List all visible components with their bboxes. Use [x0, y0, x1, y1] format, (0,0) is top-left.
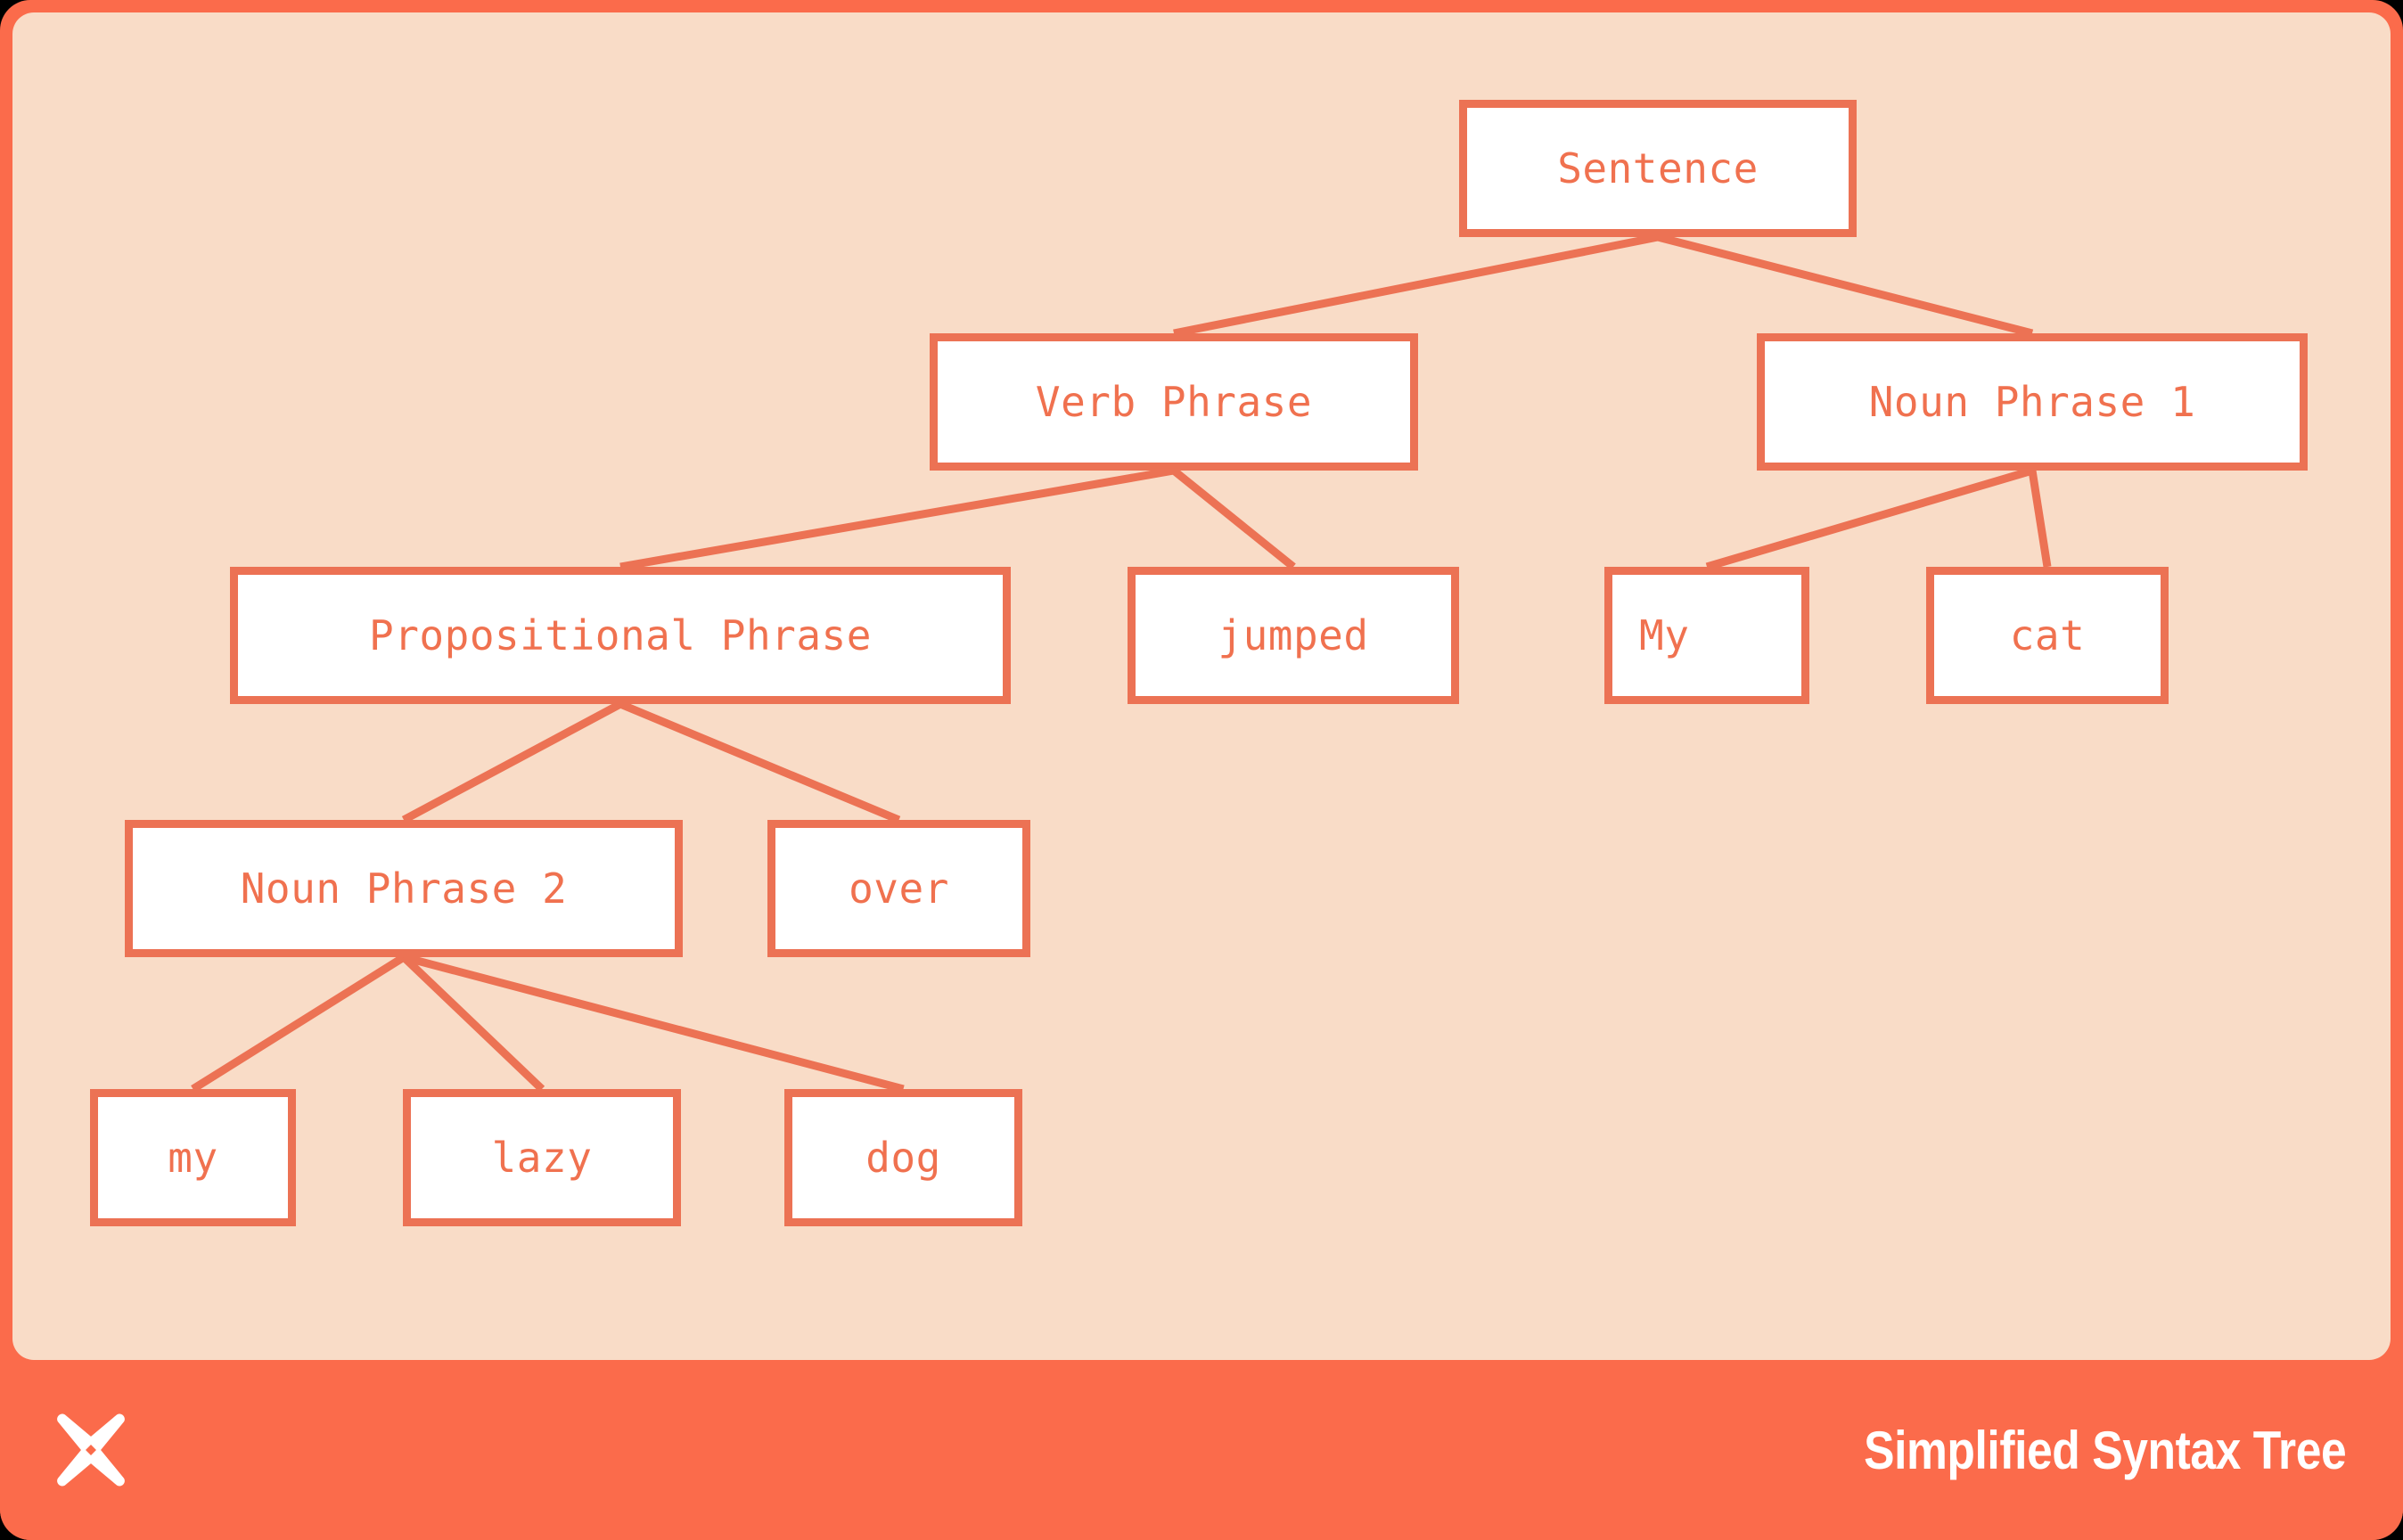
x-mark-logo-icon [50, 1409, 132, 1491]
tree-node-dog[interactable]: dog [784, 1089, 1022, 1226]
syntax-tree-card: SentenceVerb PhraseNoun Phrase 1Proposit… [0, 0, 2403, 1540]
edge-verb_phrase-to-prop_phrase [620, 471, 1174, 567]
tree-node-jumped[interactable]: jumped [1128, 567, 1459, 704]
tree-node-label: jumped [1218, 615, 1368, 656]
tree-node-label: lazy [492, 1137, 593, 1178]
tree-node-label: dog [865, 1137, 941, 1178]
footer-bar: Simplified Syntax Tree [0, 1360, 2403, 1540]
tree-node-label: Noun Phrase 2 [241, 868, 568, 909]
edge-sentence-to-verb_phrase [1174, 237, 1658, 333]
tree-node-label: Sentence [1557, 148, 1759, 189]
edge-noun_phrase_1-to-cat [2032, 471, 2047, 567]
edge-sentence-to-noun_phrase_1 [1658, 237, 2032, 333]
tree-node-over[interactable]: over [767, 820, 1030, 957]
tree-node-label: Propositional Phrase [369, 615, 872, 656]
tree-node-label: over [849, 868, 949, 909]
tree-node-noun_phrase_2[interactable]: Noun Phrase 2 [125, 820, 683, 957]
footer-title: Simplified Syntax Tree [1864, 1420, 2346, 1481]
tree-node-label: my [168, 1137, 217, 1178]
tree-node-my_poss[interactable]: my [90, 1089, 296, 1226]
tree-node-prop_phrase[interactable]: Propositional Phrase [230, 567, 1011, 704]
tree-node-label: Verb Phrase [1036, 381, 1312, 422]
edge-prop_phrase-to-over [620, 704, 899, 820]
tree-node-cat[interactable]: cat [1926, 567, 2169, 704]
tree-node-label: Noun Phrase 1 [1869, 381, 2196, 422]
tree-node-sentence[interactable]: Sentence [1459, 100, 1857, 237]
edge-noun_phrase_1-to-my_det [1707, 471, 2032, 567]
edge-noun_phrase_2-to-dog [404, 957, 904, 1089]
tree-node-label: cat [2010, 615, 2086, 656]
tree-node-lazy[interactable]: lazy [403, 1089, 681, 1226]
tree-node-verb_phrase[interactable]: Verb Phrase [930, 333, 1418, 471]
tree-node-my_det[interactable]: My [1604, 567, 1809, 704]
tree-node-noun_phrase_1[interactable]: Noun Phrase 1 [1757, 333, 2308, 471]
diagram-canvas: SentenceVerb PhraseNoun Phrase 1Proposit… [12, 12, 2391, 1360]
tree-node-label: My [1639, 615, 1689, 656]
edge-noun_phrase_2-to-lazy [404, 957, 542, 1089]
edge-verb_phrase-to-jumped [1174, 471, 1293, 567]
edge-noun_phrase_2-to-my_poss [193, 957, 405, 1089]
edge-prop_phrase-to-noun_phrase_2 [404, 704, 620, 820]
